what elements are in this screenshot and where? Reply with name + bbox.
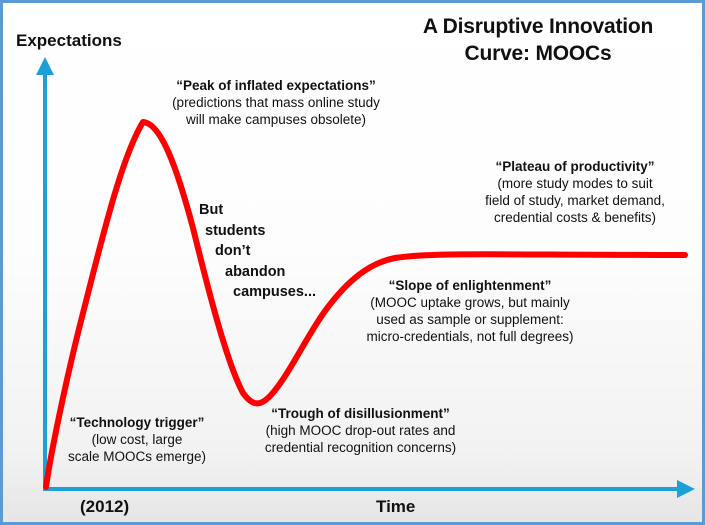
page-title: A Disruptive Innovation Curve: MOOCs [388, 13, 688, 68]
title-line-1: A Disruptive Innovation [423, 15, 653, 38]
annotation-trigger-title: “Technology trigger” [51, 414, 223, 431]
title-line-2: Curve: MOOCs [465, 42, 612, 65]
annotation-slope-title: “Slope of enlightenment” [336, 277, 604, 294]
annotation-students-line-1: But [199, 200, 319, 221]
annotation-trough-title: “Trough of disillusionment” [239, 405, 482, 422]
annotation-slope-line-2: used as sample or supplement: [336, 311, 604, 328]
annotation-slope: “Slope of enlightenment” (MOOC uptake gr… [336, 277, 604, 346]
x-axis-origin-label: (2012) [80, 497, 129, 517]
y-axis-label: Expectations [16, 31, 122, 51]
annotation-trough: “Trough of disillusionment” (high MOOC d… [239, 405, 482, 456]
annotation-students-line-3: don’t [199, 241, 319, 262]
annotation-plateau-title: “Plateau of productivity” [451, 158, 699, 175]
annotation-students: But students don’t abandon campuses... [199, 200, 319, 303]
x-axis-label: Time [376, 497, 415, 517]
annotation-plateau-line-3: credential costs & benefits) [451, 209, 699, 226]
annotation-peak: “Peak of inflated expectations” (predict… [131, 77, 421, 128]
annotation-slope-line-1: (MOOC uptake grows, but mainly [336, 294, 604, 311]
annotation-students-line-4: abandon [199, 262, 319, 283]
annotation-trough-line-2: credential recognition concerns) [239, 439, 482, 456]
annotation-students-line-2: students [199, 221, 319, 242]
annotation-plateau: “Plateau of productivity” (more study mo… [451, 158, 699, 227]
annotation-plateau-line-1: (more study modes to suit [451, 175, 699, 192]
annotation-trigger: “Technology trigger” (low cost, large sc… [51, 414, 223, 465]
annotation-peak-title: “Peak of inflated expectations” [131, 77, 421, 94]
annotation-trough-line-1: (high MOOC drop-out rates and [239, 422, 482, 439]
annotation-slope-line-3: micro-credentials, not full degrees) [336, 328, 604, 345]
annotation-peak-line-2: will make campuses obsolete) [131, 111, 421, 128]
annotation-students-line-5: campuses... [199, 282, 319, 303]
annotation-trigger-line-1: (low cost, large [51, 431, 223, 448]
annotation-plateau-line-2: field of study, market demand, [451, 192, 699, 209]
annotation-trigger-line-2: scale MOOCs emerge) [51, 448, 223, 465]
annotation-peak-line-1: (predictions that mass online study [131, 94, 421, 111]
disruptive-innovation-curve-figure: A Disruptive Innovation Curve: MOOCs Exp… [0, 0, 705, 525]
